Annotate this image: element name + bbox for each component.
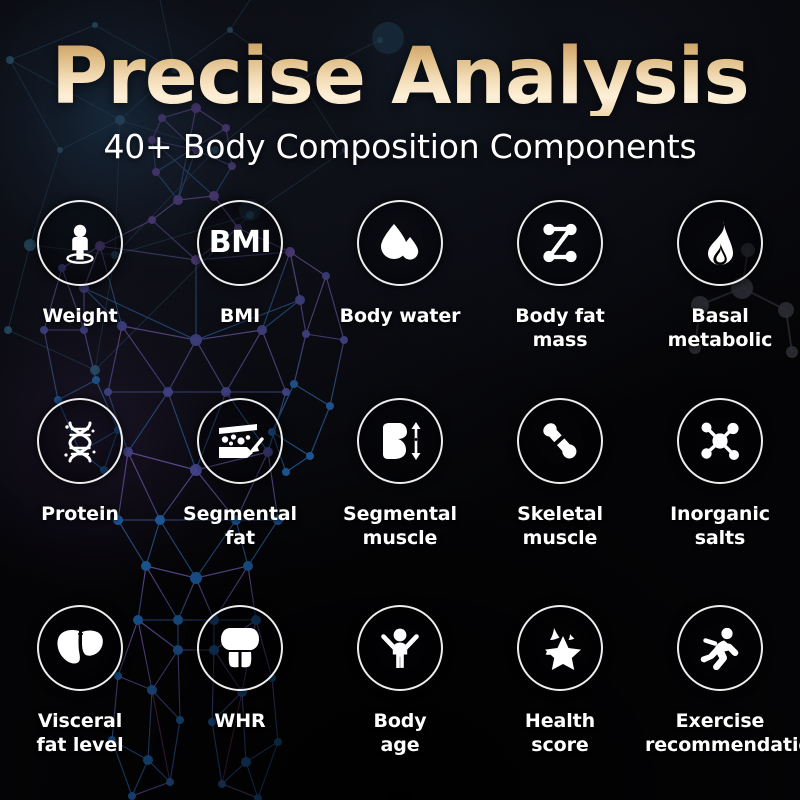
component-label: Skeletal muscle xyxy=(485,502,635,551)
component-visceral-fat-level[interactable]: Visceral fat level xyxy=(0,585,160,785)
component-label: BMI xyxy=(220,304,260,328)
component-label: Protein xyxy=(41,502,119,526)
page-title: Precise Analysis xyxy=(0,38,800,116)
component-health-score[interactable]: Health score xyxy=(480,585,640,785)
component-body-water[interactable]: Body water xyxy=(320,180,480,380)
component-label: Weight xyxy=(42,304,117,328)
component-body-fat-mass[interactable]: Body fat mass xyxy=(480,180,640,380)
flexed-bicep-icon xyxy=(357,398,443,484)
component-segmental-fat[interactable]: Segmental fat xyxy=(160,380,320,585)
water-drops-icon xyxy=(357,200,443,286)
page-subtitle: 40+ Body Composition Components xyxy=(0,130,800,163)
component-label: Segmental fat xyxy=(183,502,297,551)
component-label: Basal metabolic xyxy=(645,304,795,353)
bmi-icon-text: BMI xyxy=(209,228,271,258)
component-label: Body age xyxy=(373,709,426,758)
component-whr[interactable]: WHR xyxy=(160,585,320,785)
component-inorganic-salts[interactable]: Inorganic salts xyxy=(640,380,800,585)
component-label: Segmental muscle xyxy=(343,502,457,551)
component-body-age[interactable]: Body age xyxy=(320,585,480,785)
hip-waist-icon xyxy=(197,605,283,691)
grid-row: Protein Segmental fat xyxy=(0,380,800,585)
component-grid: Weight BMI BMI Body water xyxy=(0,180,800,785)
molecule-cluster-icon xyxy=(677,398,763,484)
component-label: Health score xyxy=(525,709,595,758)
component-label: Visceral fat level xyxy=(36,709,123,758)
grid-row: Weight BMI BMI Body water xyxy=(0,180,800,380)
component-label: Inorganic salts xyxy=(645,502,795,551)
star-burst-icon xyxy=(517,605,603,691)
component-label: WHR xyxy=(214,709,265,733)
bone-joint-icon xyxy=(517,398,603,484)
fat-layers-icon xyxy=(197,398,283,484)
component-skeletal-muscle[interactable]: Skeletal muscle xyxy=(480,380,640,585)
component-segmental-muscle[interactable]: Segmental muscle xyxy=(320,380,480,585)
fat-molecule-icon xyxy=(517,200,603,286)
component-label: Body water xyxy=(340,304,461,328)
header: Precise Analysis 40+ Body Composition Co… xyxy=(0,38,800,163)
component-exercise-recommendations[interactable]: Exercise recommendations xyxy=(640,585,800,785)
running-person-icon xyxy=(677,605,763,691)
component-basal-metabolic[interactable]: Basal metabolic xyxy=(640,180,800,380)
person-arms-up-icon xyxy=(357,605,443,691)
dna-helix-icon xyxy=(37,398,123,484)
component-label: Body fat mass xyxy=(485,304,635,353)
flame-icon xyxy=(677,200,763,286)
component-label: Exercise recommendations xyxy=(645,709,795,758)
bmi-text-icon: BMI xyxy=(197,200,283,286)
component-bmi[interactable]: BMI BMI xyxy=(160,180,320,380)
grid-row: Visceral fat level WHR xyxy=(0,585,800,785)
component-protein[interactable]: Protein xyxy=(0,380,160,585)
component-weight[interactable]: Weight xyxy=(0,180,160,380)
person-on-scale-icon xyxy=(37,200,123,286)
liver-icon xyxy=(37,605,123,691)
